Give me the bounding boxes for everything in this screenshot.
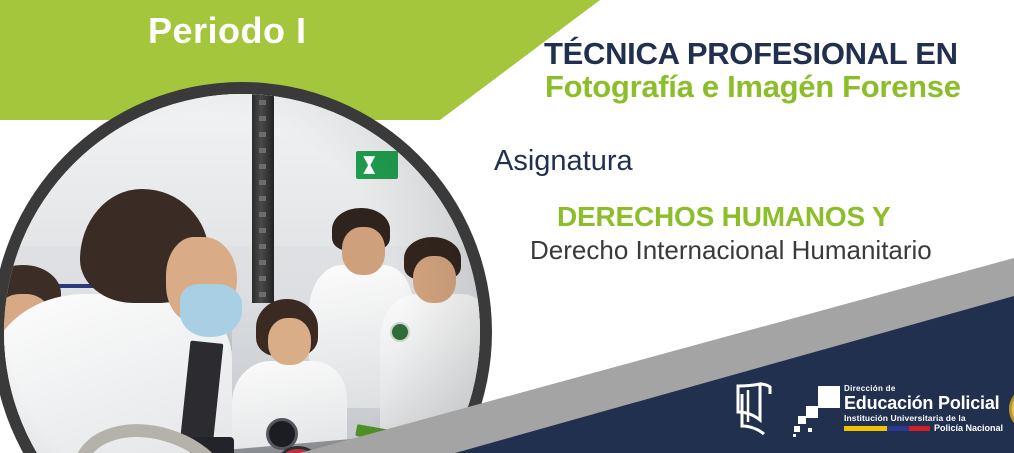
subject-name: DERECHOS HUMANOS Y — [557, 202, 1014, 232]
program-text-column: TÉCNICA PROFESIONAL EN Fotografía e Imag… — [489, 38, 1014, 265]
photo-vignette — [4, 94, 480, 453]
period-label: Periodo I — [148, 10, 307, 52]
program-title-line2: Fotografía e Imagén Forense — [545, 70, 1014, 105]
logo-line-policia-nacional: Policía Nacional — [934, 424, 1003, 433]
course-banner: Periodo I — [0, 0, 1014, 453]
logo-line-educacion-policial: Educación Policial — [844, 394, 1003, 412]
photo-circle — [4, 94, 480, 453]
subject-label: Asignatura — [494, 147, 1014, 176]
logo-line-direccion: Dirección de — [844, 385, 1003, 393]
logo-line-institucion: Institución Universitaria de la — [844, 414, 1003, 423]
institutional-logo: Dirección de Educación Policial Instituc… — [730, 378, 1002, 440]
forensic-lab-photo — [4, 94, 480, 453]
open-book-icon — [730, 380, 794, 438]
pixel-dissolve-icon — [794, 382, 840, 436]
colombia-flag-bar-icon — [844, 426, 930, 431]
logo-text-block: Dirección de Educación Policial Instituc… — [844, 385, 1003, 434]
logo-flag-row: Policía Nacional — [844, 424, 1003, 433]
subject-subtitle: Derecho Internacional Humanitario — [530, 236, 1014, 265]
program-title-line1: TÉCNICA PROFESIONAL EN — [544, 38, 1014, 70]
